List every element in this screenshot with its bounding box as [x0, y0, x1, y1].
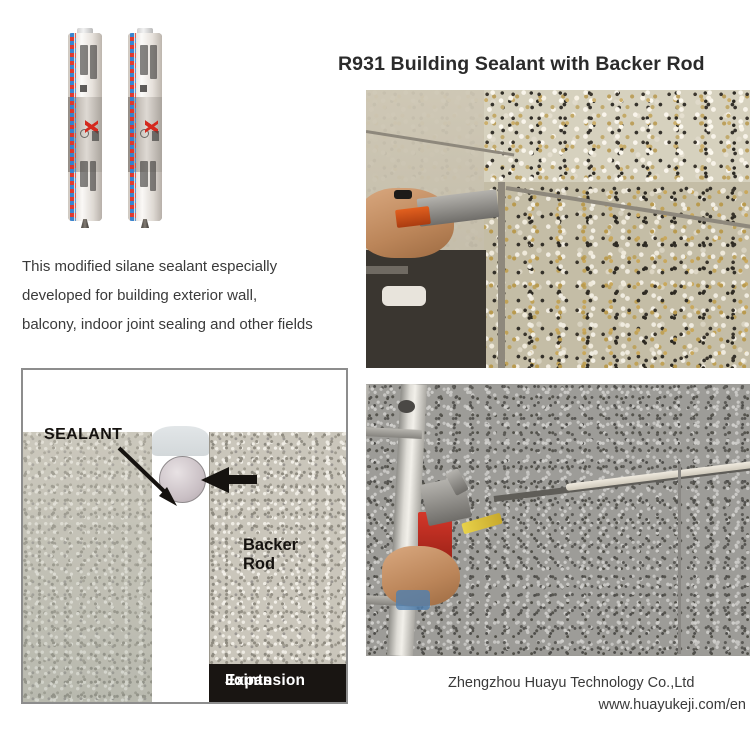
cartridge-qr-mark	[80, 85, 87, 92]
company-website[interactable]: www.huayukeji.com/en	[448, 694, 748, 716]
description-line-1: This modified silane sealant especially	[22, 252, 352, 281]
aggregate-panel-upper	[484, 90, 750, 182]
cartridge-stripe-band	[70, 33, 74, 221]
cartridge-text-block	[80, 161, 88, 187]
cartridge-stripe-band-secondary	[75, 33, 77, 221]
company-name: Zhengzhou Huayu Technology Co.,Ltd	[448, 672, 748, 694]
backer-rod-label-line-1: Backer	[243, 536, 298, 555]
cartridge-stripe-band	[130, 33, 134, 221]
cartridge-text-block	[140, 161, 148, 187]
joint-preparation-photo	[366, 90, 750, 368]
cartridge-qr-mark	[140, 85, 147, 92]
cartridge-text-block	[140, 45, 148, 75]
description-line-2: developed for building exterior wall,	[22, 281, 352, 310]
joint-cross-section-diagram: SEALANT Backer Rod Expansion Joints	[21, 368, 348, 704]
wrist-band	[394, 190, 412, 199]
product-description: This modified silane sealant especially …	[22, 252, 352, 339]
vertical-joint-line	[678, 464, 681, 654]
backer-rod-label: Backer Rod	[243, 536, 298, 574]
cartridge-text-block	[90, 161, 96, 191]
expansion-joints-line-2: Joints	[225, 672, 272, 689]
product-marketing-image: R931 Building Sealant with Backer Rod Th…	[0, 0, 750, 750]
ladder-rivet	[398, 400, 415, 413]
joint-line-vertical	[498, 182, 505, 368]
cartridge-text-block	[80, 45, 88, 75]
expansion-joints-bar: Expansion Joints	[209, 664, 348, 704]
metal-frame-edge	[366, 266, 408, 274]
cartridge-stripe-band-secondary	[135, 33, 137, 221]
sealant-application-photo	[366, 384, 750, 656]
cartridge-body	[68, 33, 102, 221]
sealant-cartridge-left	[68, 28, 102, 228]
cartridge-text-block	[150, 45, 157, 79]
description-line-3: balcony, indoor joint sealing and other …	[22, 310, 352, 339]
cartridge-text-block	[150, 161, 156, 191]
sealant-label: SEALANT	[44, 426, 122, 444]
backer-rod-label-line-2: Rod	[243, 555, 298, 574]
worker-sleeve	[396, 590, 430, 610]
backer-rod-arrow-icon	[201, 465, 257, 495]
footer: Zhengzhou Huayu Technology Co.,Ltd www.h…	[448, 672, 748, 716]
brand-name-mark	[92, 131, 99, 141]
page-title: R931 Building Sealant with Backer Rod	[338, 53, 748, 76]
brand-name-mark	[152, 131, 159, 141]
sealant-cartridge-right	[128, 28, 162, 228]
product-cartridges-group	[60, 28, 190, 233]
cartridge-body	[128, 33, 162, 221]
sealant-arrow-icon	[115, 444, 187, 510]
wall-fixture	[382, 286, 426, 306]
cartridge-text-block	[90, 45, 97, 79]
